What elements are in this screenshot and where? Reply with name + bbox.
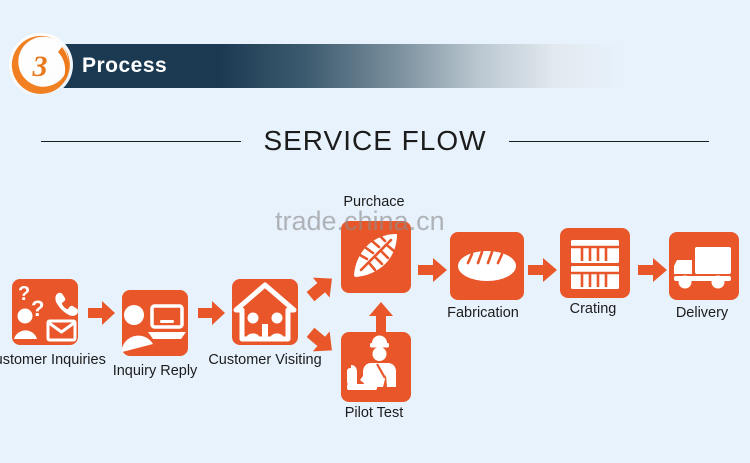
customer-inquiries-box[interactable]: ? ?	[12, 279, 78, 345]
flow-node-label: Delivery	[627, 304, 750, 323]
pilot-test-box[interactable]	[341, 332, 411, 402]
badge-number-text: 3	[32, 50, 48, 83]
bread-loaf-icon	[450, 232, 524, 300]
person-laptop-icon	[122, 290, 188, 356]
purchace-box[interactable]	[341, 221, 411, 293]
connector-arrow-pilot-to-purchace	[368, 301, 394, 333]
flow-node-delivery[interactable]: Delivery	[669, 232, 739, 300]
wooden-crate-icon	[560, 228, 630, 298]
section-title-row: SERVICE FLOW	[0, 120, 750, 162]
flow-node-label: Customer Visiting	[190, 351, 340, 370]
flow-node-customer-visiting[interactable]: Customer Visiting	[232, 279, 298, 345]
flow-node-pilot-test[interactable]: Pilot Test	[341, 332, 411, 402]
crating-box[interactable]	[560, 228, 630, 298]
delivery-box[interactable]	[669, 232, 739, 300]
inquiry-reply-box[interactable]	[122, 290, 188, 356]
connector-arrow-reply-to-visiting	[198, 300, 226, 326]
title-rule-right	[509, 141, 709, 142]
question-person-phone-envelope-icon: ? ?	[12, 279, 78, 345]
title-rule-left	[41, 141, 241, 142]
flow-node-fabrication[interactable]: Fabrication	[450, 232, 524, 300]
flow-node-customer-inquiries[interactable]: ? ? Customer Inquiries	[12, 279, 78, 345]
delivery-truck-icon	[669, 232, 739, 300]
flow-node-inquiry-reply[interactable]: Inquiry Reply	[122, 290, 188, 356]
flow-node-purchace[interactable]: Purchace	[341, 221, 411, 293]
inspector-officer-icon	[341, 332, 411, 402]
flow-node-label: Purchace	[299, 193, 449, 212]
flow-node-crating[interactable]: Crating	[560, 228, 630, 298]
connector-arrow-inquiries-to-reply	[88, 300, 116, 326]
connector-arrow-purchace-to-fabrication	[418, 257, 448, 283]
connector-arrow-crating-to-delivery	[638, 257, 668, 283]
customer-visiting-box[interactable]	[232, 279, 298, 345]
connector-arrow-visiting-to-purchace	[305, 270, 339, 304]
svg-text:?: ?	[31, 296, 44, 321]
connector-arrow-fabrication-to-crating	[528, 257, 558, 283]
header-title: Process	[82, 53, 167, 79]
house-two-people-icon	[232, 279, 298, 345]
flow-node-label: Pilot Test	[299, 404, 449, 423]
page-title: SERVICE FLOW	[263, 125, 486, 157]
svg-text:?: ?	[18, 283, 30, 305]
step-number-badge-icon: 3	[6, 30, 76, 100]
fabrication-box[interactable]	[450, 232, 524, 300]
wheat-grain-icon	[341, 221, 411, 293]
